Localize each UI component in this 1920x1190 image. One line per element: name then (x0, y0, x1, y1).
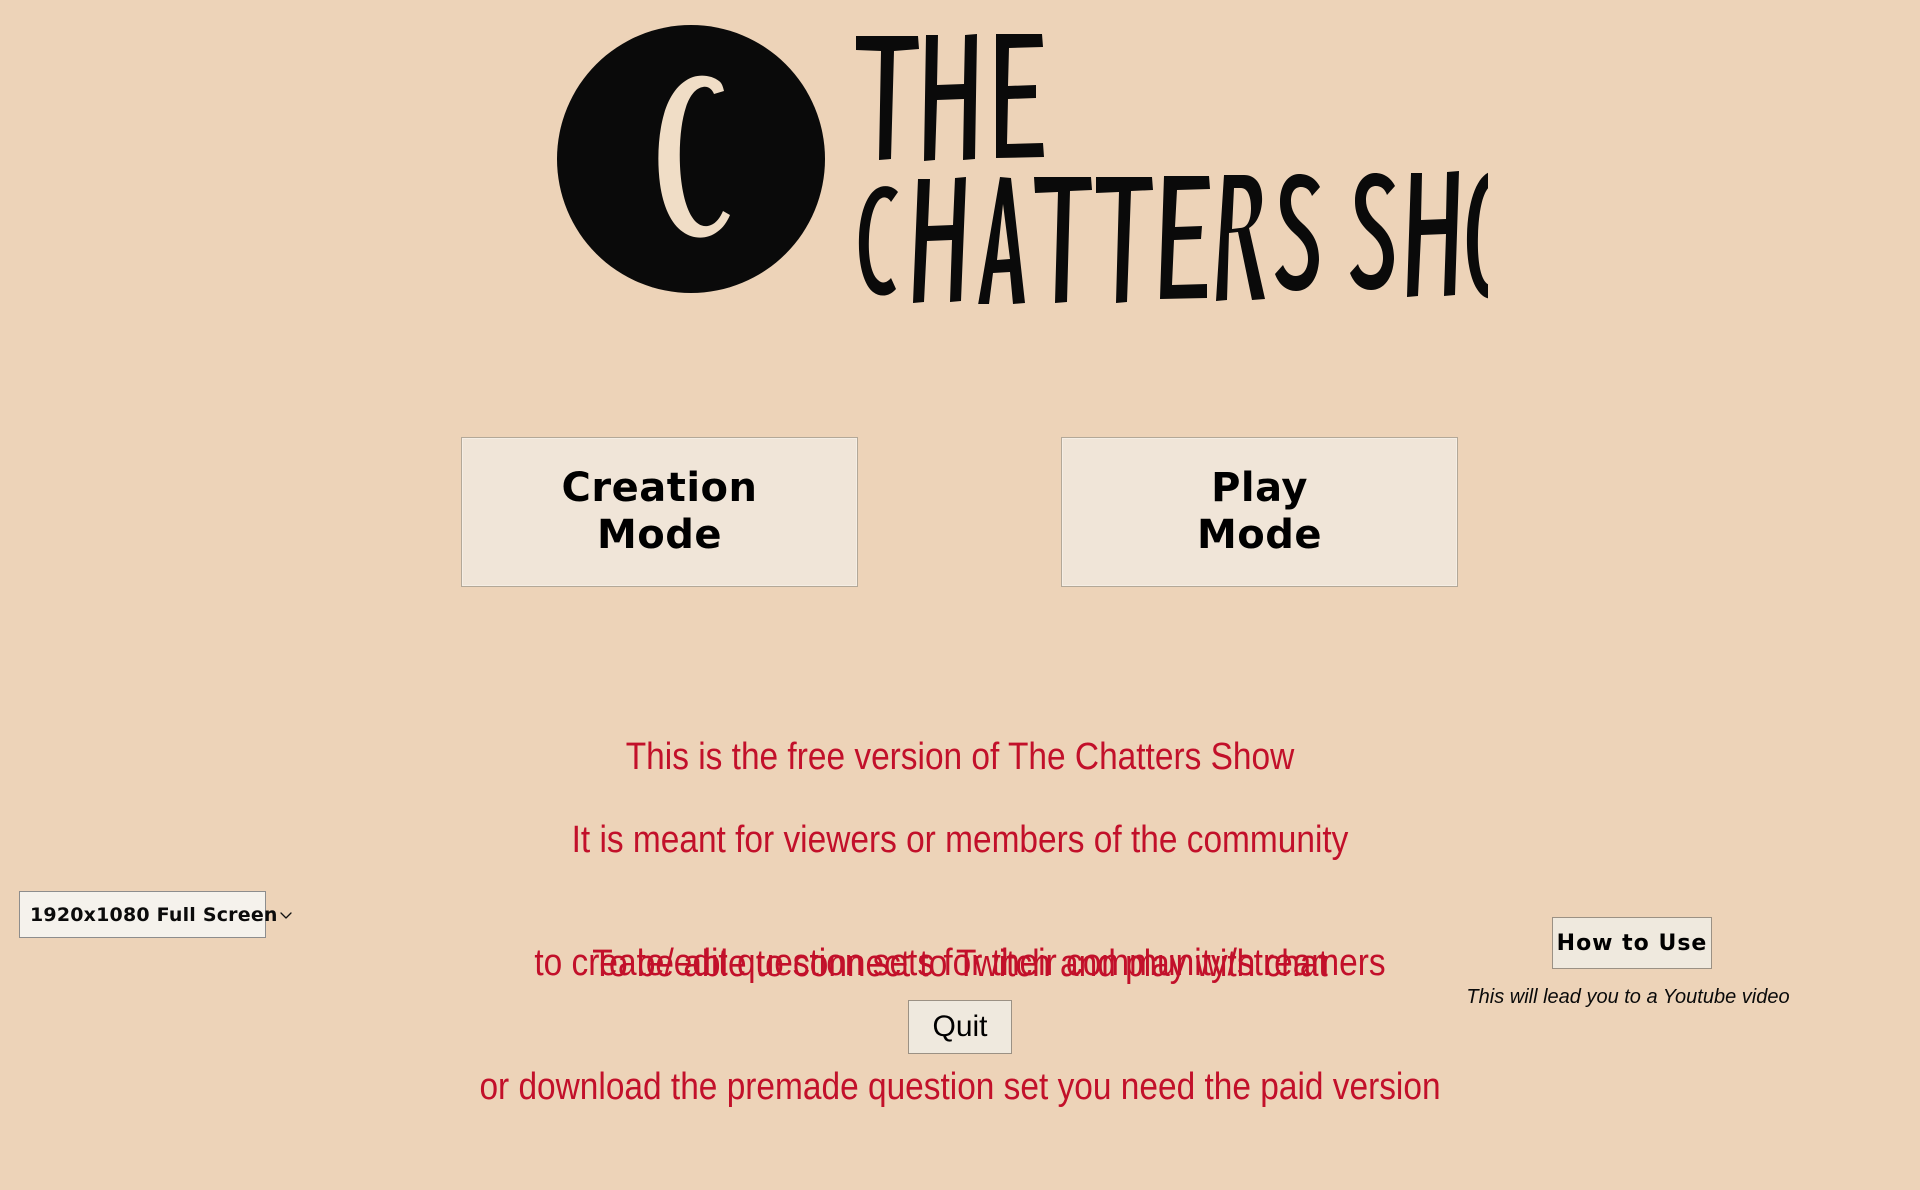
play-mode-label-line1: Play (1211, 465, 1308, 512)
paid-version-notice-line2: or download the premade question set you… (115, 1067, 1805, 1108)
app-logo (0, 14, 1920, 304)
how-to-use-label: How to Use (1557, 931, 1708, 956)
resolution-select-value: 1920x1080 Full Screen (30, 904, 278, 926)
resolution-select[interactable]: 1920x1080 Full Screen (19, 891, 266, 938)
creation-mode-label-line1: Creation (562, 465, 758, 512)
quit-button[interactable]: Quit (908, 1000, 1012, 1054)
creation-mode-label-line2: Mode (597, 512, 722, 559)
creation-mode-button[interactable]: Creation Mode (461, 437, 858, 587)
quit-label: Quit (932, 1010, 987, 1044)
logo-circle-c-icon (556, 24, 826, 294)
chevron-down-icon (278, 907, 294, 923)
how-to-use-button[interactable]: How to Use (1552, 917, 1712, 969)
audience-notice-line1: It is meant for viewers or members of th… (115, 820, 1805, 861)
play-mode-button[interactable]: Play Mode (1061, 437, 1458, 587)
app-root: Creation Mode Play Mode This is the free… (0, 0, 1920, 1080)
play-mode-label-line2: Mode (1197, 512, 1322, 559)
logo-wordmark (848, 14, 1488, 304)
how-to-use-caption: This will lead you to a Youtube video (1400, 986, 1856, 1009)
